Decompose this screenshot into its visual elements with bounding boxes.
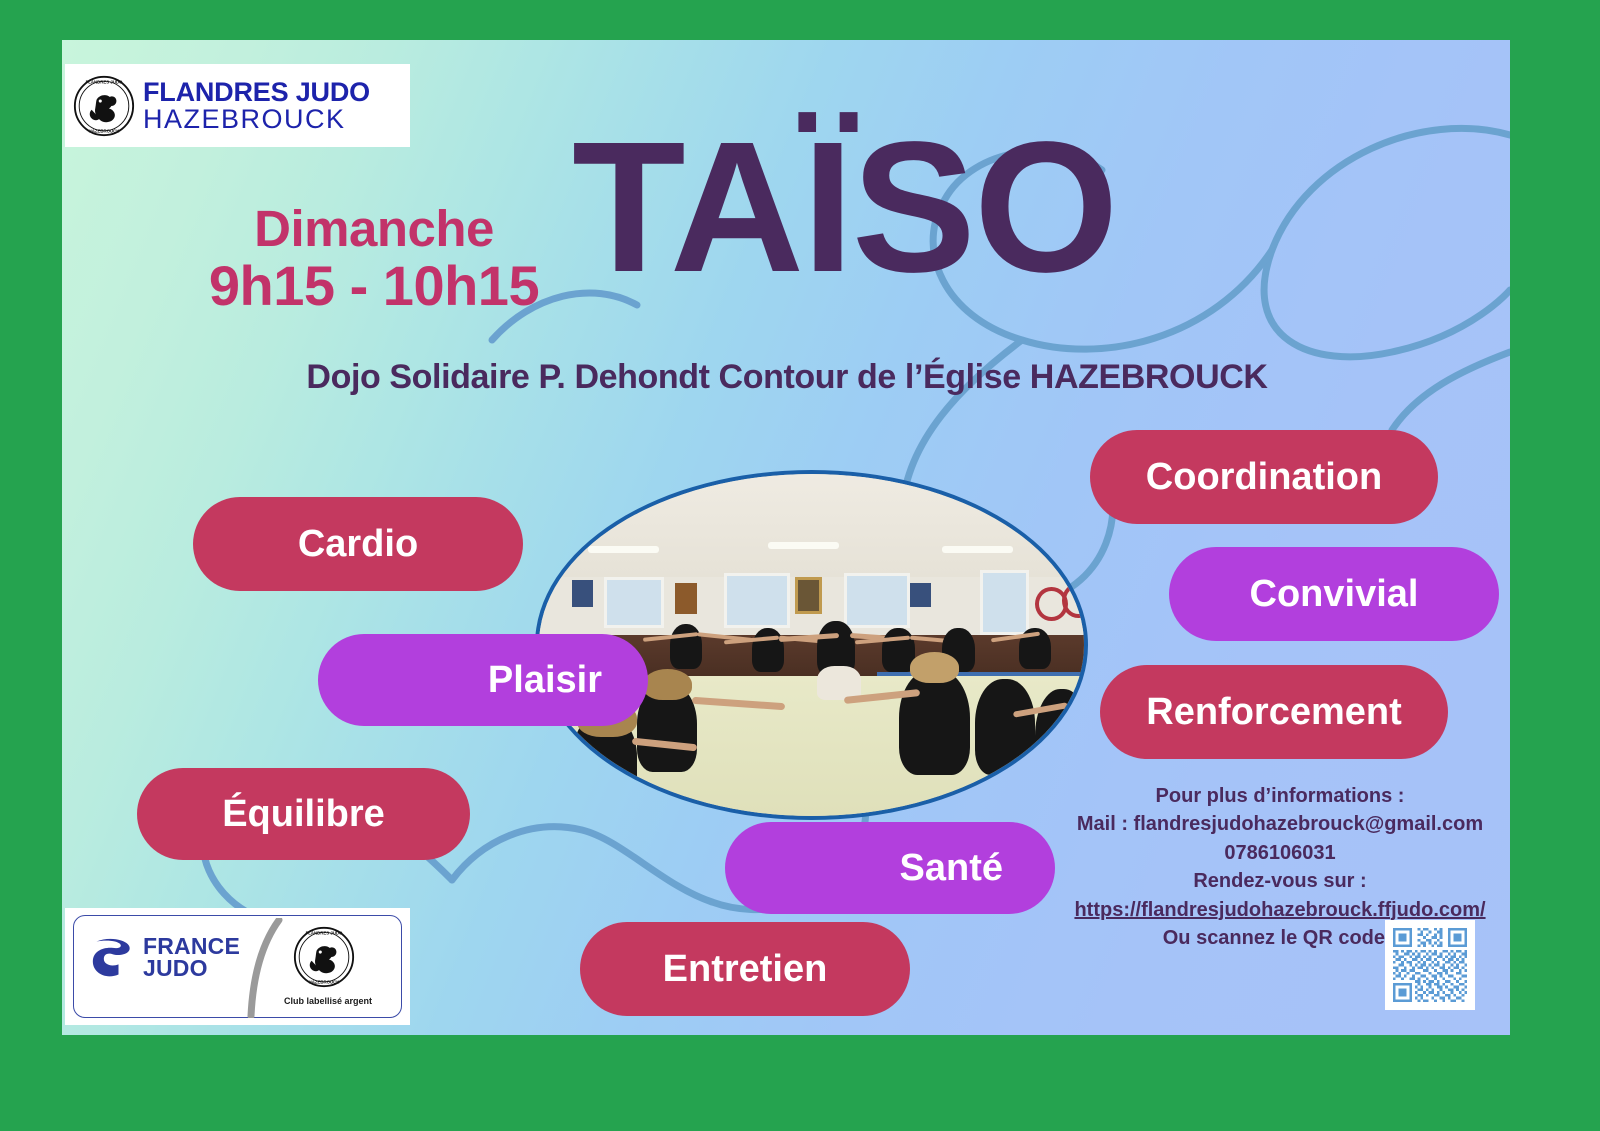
feature-pill-convivial: Convivial	[1169, 547, 1499, 641]
feature-pill-renforcement: Renforcement	[1100, 665, 1448, 759]
feature-pill-cardio: Cardio	[193, 497, 523, 591]
svg-text:HAZEBROUCK: HAZEBROUCK	[309, 980, 341, 985]
schedule-day: Dimanche	[174, 202, 574, 256]
contact-heading: Pour plus d’informations :	[1070, 782, 1490, 810]
club-label-caption: Club labellisé argent	[263, 996, 393, 1006]
venue-address: Dojo Solidaire P. Dehondt Contour de l’É…	[252, 358, 1322, 397]
page-title: TAÏSO	[572, 115, 1132, 301]
france-judo-line2: JUDO	[143, 958, 240, 980]
contact-phone: 0786106031	[1070, 839, 1490, 867]
schedule-time: 9h15 - 10h15	[174, 256, 574, 315]
feature-pill-entretien: Entretien	[580, 922, 910, 1016]
contact-rendezvous-label: Rendez-vous sur :	[1070, 867, 1490, 895]
france-judo-mark-icon	[91, 934, 135, 982]
qr-code-icon	[1390, 925, 1470, 1005]
feature-pill-equilibre: Équilibre	[137, 768, 470, 860]
club-logo-line1: FLANDRES JUDO	[143, 79, 370, 106]
feature-pill-plaisir: Plaisir	[318, 634, 648, 726]
poster-frame: FLANDRES JUDO HAZEBROUCK FLANDRES JUDO H…	[0, 0, 1600, 1131]
feature-pill-coordination: Coordination	[1090, 430, 1438, 524]
flandres-judo-emblem-icon: FLANDRES JUDO HAZEBROUCK	[73, 75, 135, 137]
poster-canvas: FLANDRES JUDO HAZEBROUCK FLANDRES JUDO H…	[62, 40, 1510, 1035]
contact-mail: Mail : flandresjudohazebrouck@gmail.com	[1070, 810, 1490, 838]
svg-text:FLANDRES JUDO: FLANDRES JUDO	[86, 79, 123, 84]
svg-text:HAZEBROUCK: HAZEBROUCK	[89, 128, 121, 133]
club-emblem-icon: FLANDRES JUDO HAZEBROUCK	[293, 926, 355, 988]
qr-code[interactable]	[1385, 920, 1475, 1010]
club-logo: FLANDRES JUDO HAZEBROUCK FLANDRES JUDO H…	[65, 64, 410, 147]
svg-text:FLANDRES JUDO: FLANDRES JUDO	[306, 931, 343, 936]
schedule-block: Dimanche 9h15 - 10h15	[174, 202, 574, 315]
partner-logos: FRANCE JUDO FLANDRES JUDO HAZEBROUC	[65, 908, 410, 1025]
feature-pill-sante: Santé	[725, 822, 1055, 914]
club-logo-line2: HAZEBROUCK	[143, 106, 370, 133]
france-judo-logo: FRANCE JUDO	[91, 934, 240, 982]
